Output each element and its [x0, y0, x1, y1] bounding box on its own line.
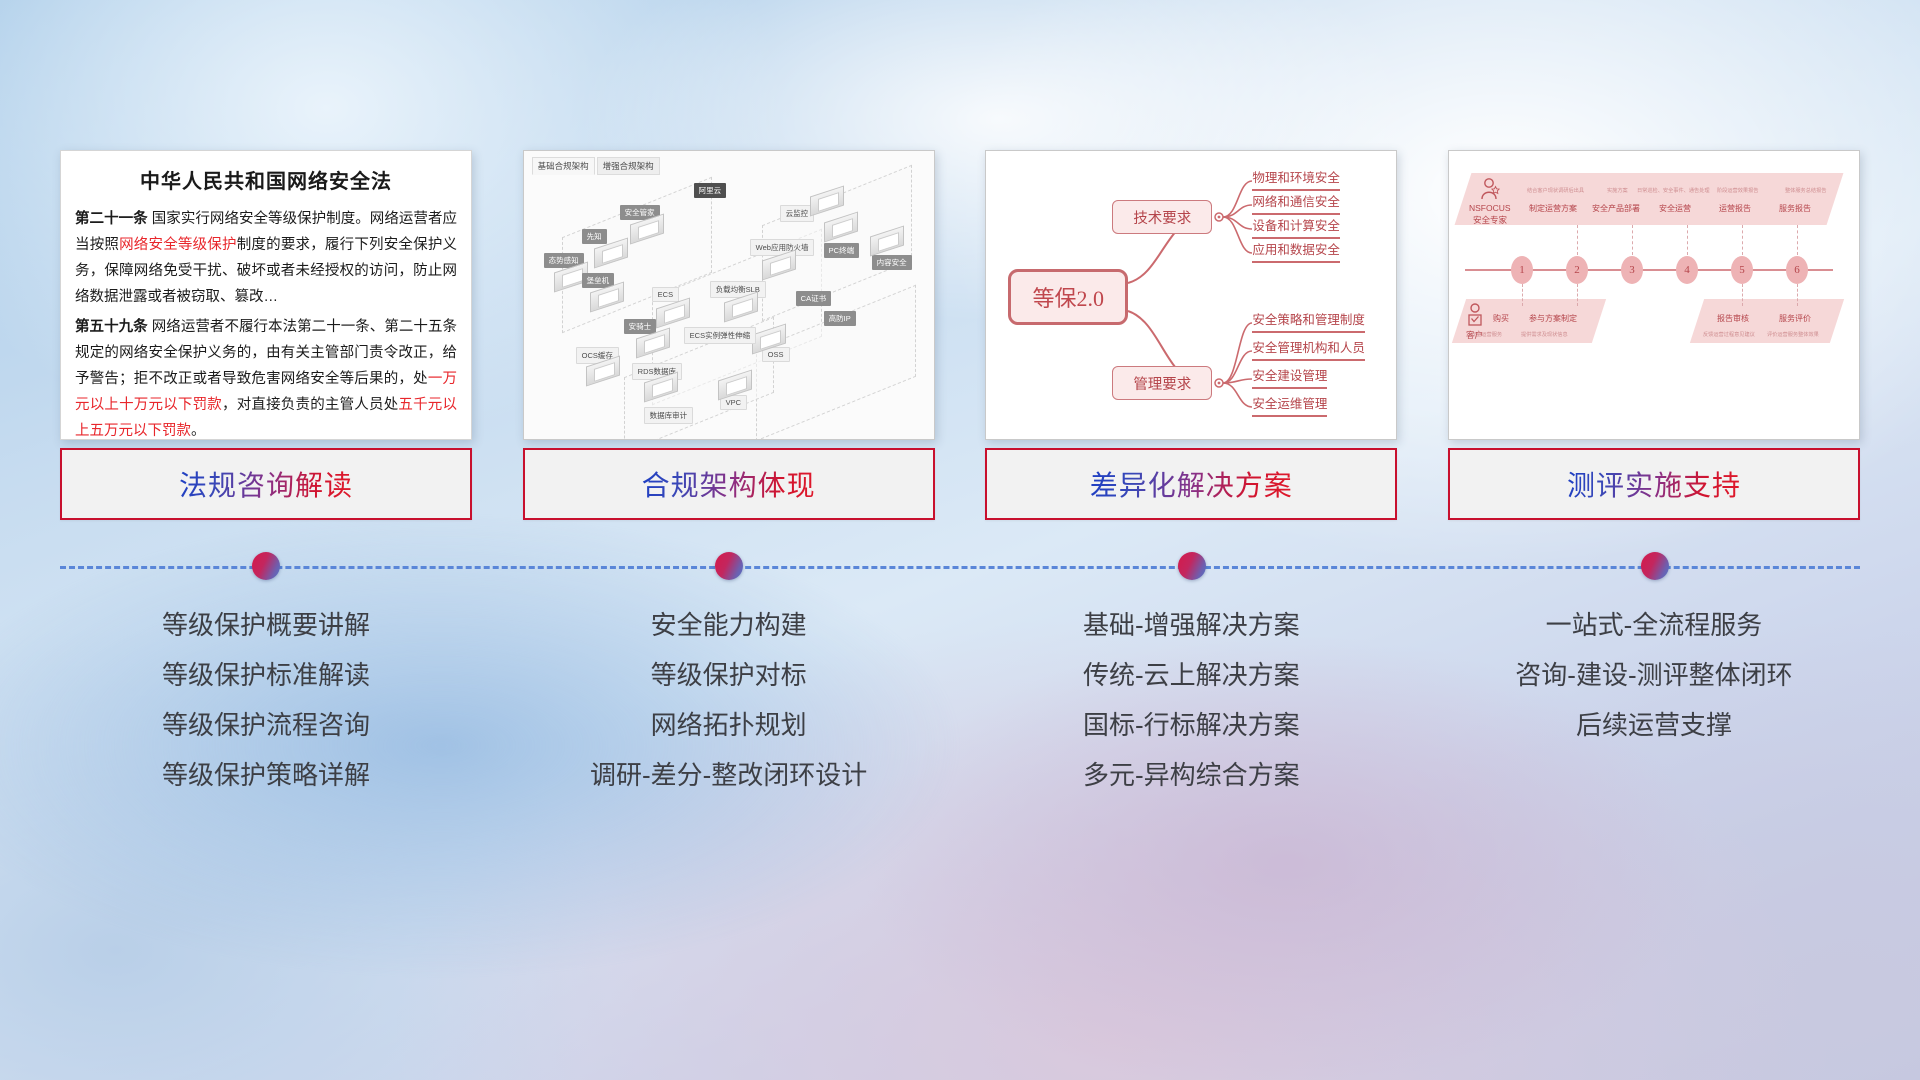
preview-cards-row: 中华人民共和国网络安全法 第二十一条 国家实行网络安全等级保护制度。网络运营者应… [60, 150, 1860, 440]
headline-label: 法规咨询解读 [179, 464, 353, 504]
customer-step-label: 服务评价 [1779, 313, 1811, 324]
timeline-tick [1797, 225, 1798, 255]
list-item: 一站式-全流程服务 [1448, 600, 1860, 650]
tab-basic-architecture[interactable]: 基础合规架构 [532, 157, 595, 175]
timeline-tick [1577, 225, 1578, 255]
headline-label: 合规架构体现 [642, 464, 816, 504]
timeline-label: 安全产品部署 [1592, 203, 1640, 214]
expert-label-line2: 安全专家 [1473, 214, 1507, 226]
customer-step-sub: 反馈运营过程意见建议 [1703, 331, 1755, 338]
list-item: 等级保护流程咨询 [60, 700, 472, 750]
timeline-tick [1687, 225, 1688, 255]
timeline-node: 6 [1786, 256, 1808, 284]
architecture-node: 先知 [582, 229, 607, 244]
timeline-marker-3 [1178, 552, 1206, 580]
mindmap-leaf: 安全建设管理 [1252, 365, 1327, 389]
law-seg: 。 [191, 423, 206, 439]
list-item: 调研-差分-整改闭环设计 [523, 750, 935, 800]
detail-lists-row: 等级保护概要讲解 等级保护标准解读 等级保护流程咨询 等级保护策略详解 安全能力… [60, 600, 1860, 800]
timeline-marker-2 [715, 552, 743, 580]
law-seg-highlight: 网络安全等级保护 [119, 237, 237, 253]
law-article-number: 第二十一条 [75, 211, 148, 227]
architecture-tabs: 基础合规架构 增强合规架构 [532, 157, 660, 175]
list-item: 等级保护对标 [523, 650, 935, 700]
timeline-tick [1742, 225, 1743, 255]
customer-step-sub: 评价运营服务整体效果 [1767, 331, 1819, 338]
mindmap-branch2-connectors [986, 151, 1397, 440]
expert-person-icon [1479, 177, 1501, 203]
architecture-node: PC终端 [824, 243, 859, 258]
architecture-node: 阿里云 [694, 183, 727, 198]
architecture-node: 内容安全 [872, 255, 912, 270]
timeline-node: 5 [1731, 256, 1753, 284]
headline-box-3[interactable]: 差异化解决方案 [985, 448, 1397, 520]
customer-step-label: 参与方案制定 [1529, 313, 1577, 324]
list-item: 等级保护标准解读 [60, 650, 472, 700]
architecture-node: 数据库审计 [644, 407, 694, 424]
timeline-tick [1797, 284, 1798, 306]
timeline-node: 1 [1511, 256, 1533, 284]
list-item: 传统-云上解决方案 [985, 650, 1397, 700]
slide-stage: 中华人民共和国网络安全法 第二十一条 国家实行网络安全等级保护制度。网络运营者应… [0, 0, 1920, 1080]
detail-list-3: 基础-增强解决方案 传统-云上解决方案 国标-行标解决方案 多元-异构综合方案 [985, 600, 1397, 800]
architecture-node: 高防IP [824, 311, 856, 326]
connector-dashed-line [60, 566, 1860, 569]
card-cybersecurity-law: 中华人民共和国网络安全法 第二十一条 国家实行网络安全等级保护制度。网络运营者应… [60, 150, 472, 440]
architecture-node: 云监控 [780, 205, 815, 222]
list-item: 等级保护策略详解 [60, 750, 472, 800]
law-body: 第二十一条 国家实行网络安全等级保护制度。网络运营者应当按照网络安全等级保护制度… [61, 194, 471, 440]
customer-step-sub: 提供需求及现状信息 [1521, 331, 1568, 338]
mindmap-leaf: 安全策略和管理制度 [1252, 309, 1365, 333]
architecture-node: ECS实例弹性伸缩 [684, 327, 756, 344]
timeline-marker-1 [252, 552, 280, 580]
law-article-number: 第五十九条 [75, 319, 148, 335]
law-seg: ，对直接负责的主管人员处 [222, 397, 398, 413]
headline-box-2[interactable]: 合规架构体现 [523, 448, 935, 520]
detail-list-2: 安全能力构建 等级保护对标 网络拓扑规划 调研-差分-整改闭环设计 [523, 600, 935, 800]
timeline-marker-4 [1641, 552, 1669, 580]
law-paragraph: 第五十九条 网络运营者不履行本法第二十一条、第二十五条规定的网络安全保护义务的，… [75, 314, 457, 440]
mindmap: 等保2.0 技术要求 物理和环境安全 网络和通信安全 [986, 151, 1396, 439]
timeline-tick [1742, 284, 1743, 306]
list-item: 网络拓扑规划 [523, 700, 935, 750]
architecture-node: ECS [652, 287, 679, 302]
customer-person-icon [1465, 303, 1485, 329]
timeline-tick [1522, 284, 1523, 306]
headline-boxes-row: 法规咨询解读 合规架构体现 差异化解决方案 测评实施支持 [60, 448, 1860, 520]
card-mindmap-dengbao: 等保2.0 技术要求 物理和环境安全 网络和通信安全 [985, 150, 1397, 440]
tab-enhanced-architecture[interactable]: 增强合规架构 [597, 157, 660, 175]
detail-list-4: 一站式-全流程服务 咨询-建设-测评整体闭环 后续运营支撑 [1448, 600, 1860, 800]
list-item: 多元-异构综合方案 [985, 750, 1397, 800]
architecture-diagram: 基础合规架构 增强合规架构 阿里云 安全管家 先知 态势感知 云监控 [524, 151, 934, 439]
law-title: 中华人民共和国网络安全法 [61, 165, 471, 194]
customer-step-sub: 安全运营服务 [1471, 331, 1502, 338]
customer-step-label: 购买 [1493, 313, 1509, 324]
list-item: 安全能力构建 [523, 600, 935, 650]
list-item: 后续运营支撑 [1448, 700, 1860, 750]
mindmap-leaf: 安全管理机构和人员 [1252, 337, 1365, 361]
timeline-sublabel: 阶段运营效果报告 [1717, 187, 1759, 194]
detail-list-1: 等级保护概要讲解 等级保护标准解读 等级保护流程咨询 等级保护策略详解 [60, 600, 472, 800]
headline-box-4[interactable]: 测评实施支持 [1448, 448, 1860, 520]
customer-step-label: 报告审核 [1717, 313, 1749, 324]
architecture-node: CA证书 [796, 291, 831, 306]
timeline-node: 3 [1621, 256, 1643, 284]
mindmap-leaf: 安全运维管理 [1252, 393, 1327, 417]
law-paragraph: 第二十一条 国家实行网络安全等级保护制度。网络运营者应当按照网络安全等级保护制度… [75, 206, 457, 310]
list-item: 等级保护概要讲解 [60, 600, 472, 650]
headline-box-1[interactable]: 法规咨询解读 [60, 448, 472, 520]
headline-label: 差异化解决方案 [1090, 464, 1293, 504]
timeline-sublabel: 整体服务总结报告 [1785, 187, 1827, 194]
timeline-node: 2 [1566, 256, 1588, 284]
timeline-band-expert [1455, 173, 1844, 225]
card-compliance-architecture: 基础合规架构 增强合规架构 阿里云 安全管家 先知 态势感知 云监控 [523, 150, 935, 440]
timeline-label: 服务报告 [1779, 203, 1811, 214]
timeline-tick [1577, 284, 1578, 306]
list-item: 咨询-建设-测评整体闭环 [1448, 650, 1860, 700]
timeline-label: 运营报告 [1719, 203, 1751, 214]
list-item: 国标-行标解决方案 [985, 700, 1397, 750]
timeline-sublabel: 实施方案 [1607, 187, 1628, 194]
timeline-node: 4 [1676, 256, 1698, 284]
expert-label-line1: NSFOCUS [1469, 203, 1511, 213]
timeline-tick [1632, 225, 1633, 255]
timeline-label: 安全运营 [1659, 203, 1691, 214]
timeline-sublabel: 日常巡检、安全事件、通告处理 [1637, 187, 1710, 194]
timeline-label: 制定运营方案 [1529, 203, 1577, 214]
architecture-node: 安骑士 [624, 319, 657, 334]
headline-label: 测评实施支持 [1567, 464, 1741, 504]
service-timeline: NSFOCUS 安全专家 客户 1 2 3 4 5 6 [1449, 151, 1859, 439]
card-service-timeline: NSFOCUS 安全专家 客户 1 2 3 4 5 6 [1448, 150, 1860, 440]
list-item: 基础-增强解决方案 [985, 600, 1397, 650]
timeline-sublabel: 结合客户现状调研后出具 [1527, 187, 1584, 194]
